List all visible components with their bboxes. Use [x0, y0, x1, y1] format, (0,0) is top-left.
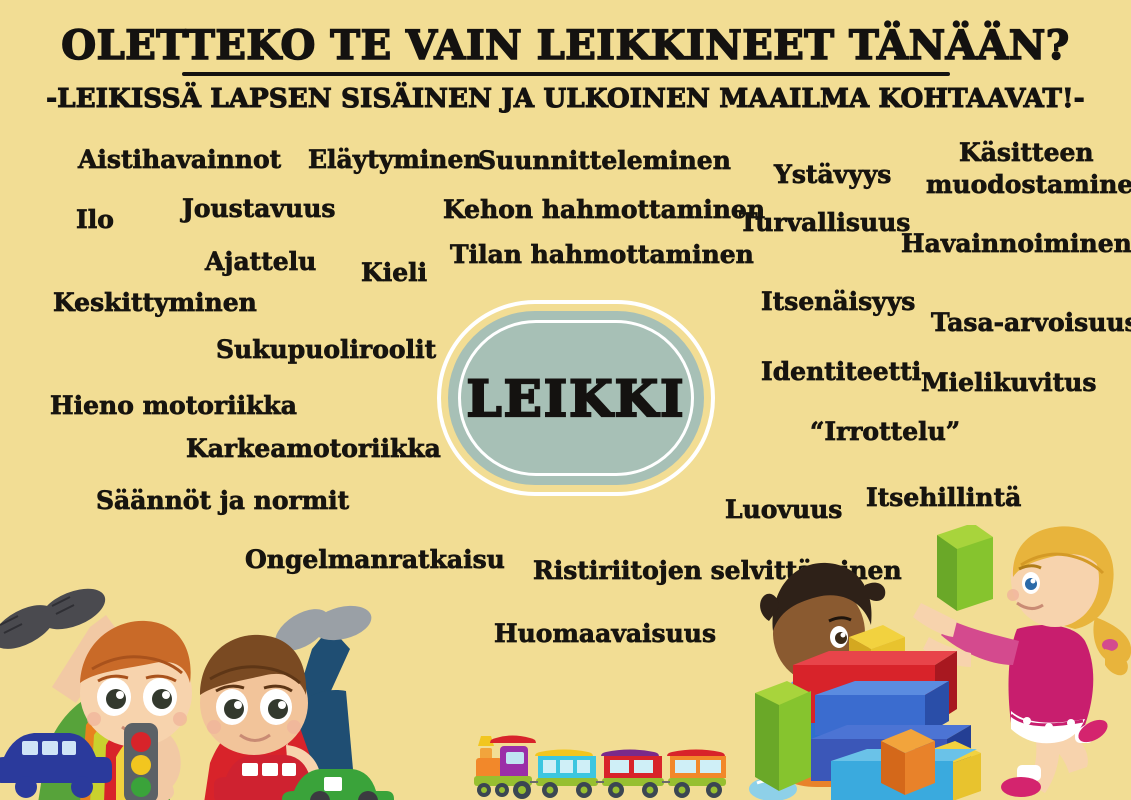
keyword-chip: muodostaminen	[926, 171, 1131, 198]
central-leikki-badge: LEIKKI	[437, 300, 715, 496]
train-car-red	[596, 750, 664, 799]
two-boys-with-toy-cars-illustration	[0, 575, 394, 800]
children-with-blocks-illustration	[745, 525, 1131, 800]
block-green-held	[937, 525, 993, 611]
keyword-chip: Ongelmanratkaisu	[245, 546, 505, 573]
keyword-chip: Tilan hahmottaminen	[450, 241, 754, 268]
toy-train-illustration	[466, 728, 726, 800]
train-car-orange	[662, 750, 726, 799]
toy-traffic-light	[124, 723, 158, 800]
keyword-chip: Suunnitteleminen	[478, 147, 731, 174]
keyword-chip: Kieli	[361, 259, 427, 286]
keyword-chip: “Irrottelu”	[810, 418, 960, 445]
keyword-chip: Karkeamotoriikka	[186, 435, 441, 462]
keyword-chip: Turvallisuus	[739, 209, 910, 236]
keyword-chip: Ilo	[76, 206, 114, 233]
leikki-label: LEIKKI	[437, 300, 715, 496]
keyword-chip: Käsitteen	[959, 139, 1094, 166]
train-locomotive	[474, 736, 536, 800]
keyword-chip: Ajattelu	[205, 248, 316, 275]
keyword-chip: Huomaavaisuus	[494, 620, 716, 647]
right-boy-head	[200, 635, 308, 755]
keyword-chip: Itsehillintä	[866, 484, 1021, 511]
keyword-chip: Joustavuus	[182, 195, 335, 222]
keyword-chip: Säännöt ja normit	[96, 487, 349, 514]
keyword-chip: Identiteetti	[761, 358, 921, 385]
keyword-chip: Aistihavainnot	[78, 146, 281, 173]
keyword-chip: Tasa-arvoisuus	[931, 309, 1131, 336]
keyword-chip: Kehon hahmottaminen	[443, 196, 765, 223]
keyword-chip: Ystävyys	[774, 161, 891, 188]
keyword-chip: Luovuus	[725, 496, 842, 523]
keyword-chip: Mielikuvitus	[921, 369, 1096, 396]
train-car-cyan	[530, 750, 598, 799]
title-underline	[182, 72, 950, 76]
keyword-chip: Sukupuoliroolit	[216, 336, 436, 363]
poster-canvas: OLETTEKO TE VAIN LEIKKINEET TÄNÄÄN? -LEI…	[0, 0, 1131, 800]
page-subtitle: -LEIKISSÄ LAPSEN SISÄINEN JA ULKOINEN MA…	[0, 84, 1131, 114]
keyword-chip: Havainnoiminen	[901, 230, 1131, 257]
keyword-chip: Keskittyminen	[53, 289, 257, 316]
keyword-chip: Hieno motoriikka	[50, 392, 297, 419]
keyword-chip: Eläytyminen	[308, 146, 482, 173]
keyword-chip: Itsenäisyys	[761, 288, 915, 315]
page-title: OLETTEKO TE VAIN LEIKKINEET TÄNÄÄN?	[0, 22, 1131, 69]
